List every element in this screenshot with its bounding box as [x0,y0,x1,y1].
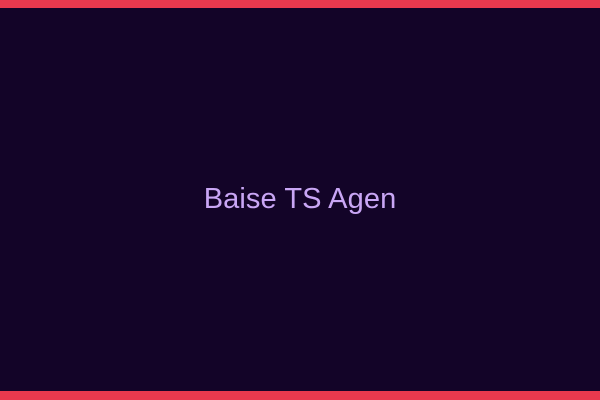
content-stage: Baise TS Agen [0,8,600,391]
app-frame: Baise TS Agen [0,0,600,400]
bottom-accent-band [0,391,600,400]
top-accent-band [0,0,600,8]
page-title: Baise TS Agen [0,184,600,216]
